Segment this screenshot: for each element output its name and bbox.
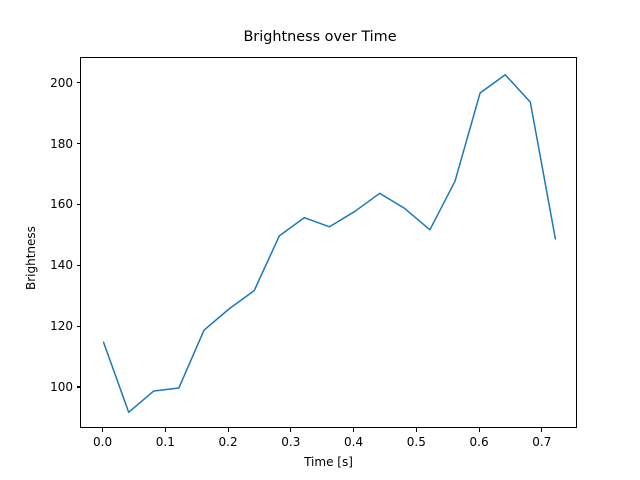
x-tick-label: 0.4 (344, 435, 363, 449)
y-tick-label: 100 (30, 380, 73, 394)
brightness-line (104, 75, 556, 413)
y-tick-label: 120 (30, 319, 73, 333)
x-axis-label: Time [s] (80, 455, 577, 469)
plot-area (80, 57, 577, 428)
x-tick-label: 0.7 (532, 435, 551, 449)
x-tick-label: 0.2 (219, 435, 238, 449)
y-tick-label: 180 (30, 137, 73, 151)
data-line-series (81, 58, 578, 429)
matplotlib-figure: Brightness over Time Brightness Time [s]… (0, 0, 640, 480)
x-tick-label: 0.6 (470, 435, 489, 449)
y-tick-label: 140 (30, 258, 73, 272)
x-tick-label: 0.3 (281, 435, 300, 449)
chart-title: Brightness over Time (0, 29, 640, 45)
x-tick-label: 0.5 (407, 435, 426, 449)
y-tick-label: 160 (30, 197, 73, 211)
x-tick-label: 0.1 (156, 435, 175, 449)
y-tick-label: 200 (30, 76, 73, 90)
x-tick-label: 0.0 (93, 435, 112, 449)
